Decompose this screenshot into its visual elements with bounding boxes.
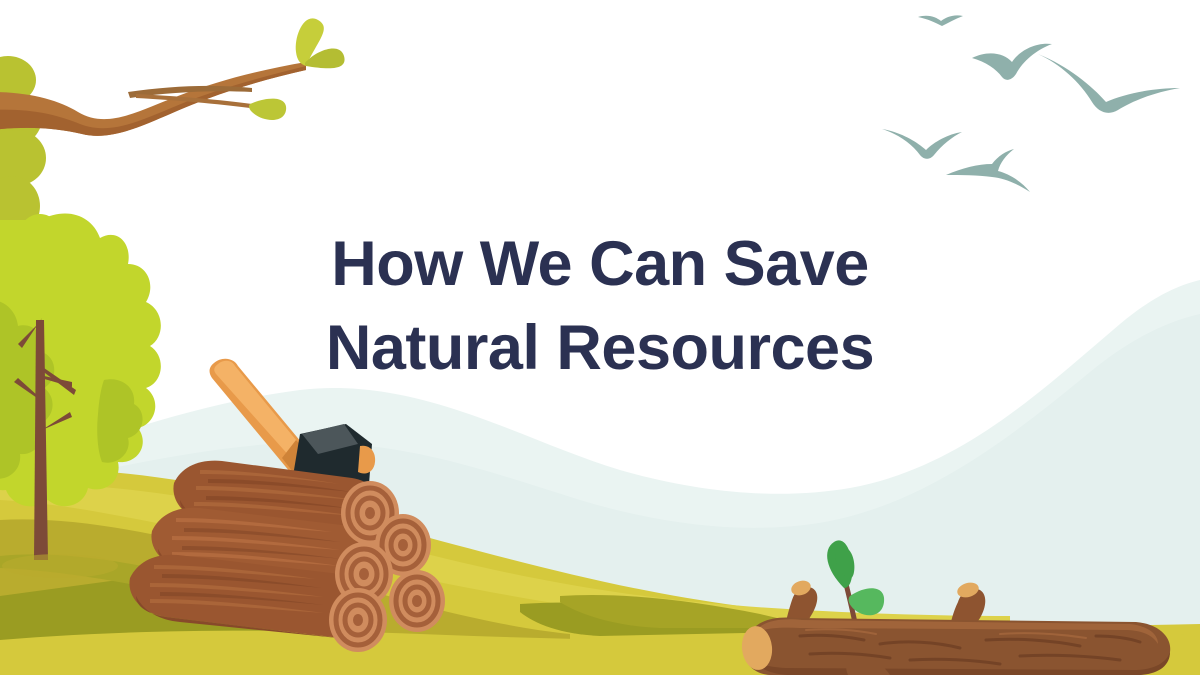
log-end-ring-4 bbox=[389, 570, 445, 632]
poster-banner: How We Can Save Natural Resources bbox=[0, 0, 1200, 675]
tree-shadow bbox=[2, 554, 118, 578]
nature-illustration bbox=[0, 0, 1200, 675]
log-end-ring-5 bbox=[329, 588, 387, 652]
